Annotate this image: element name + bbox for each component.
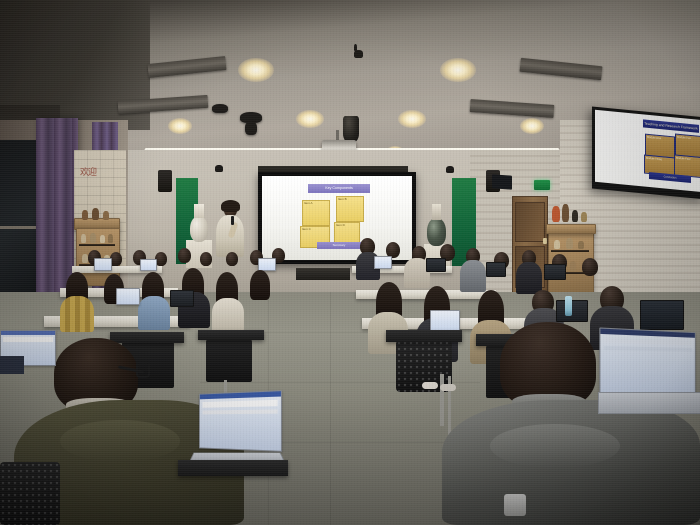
figurine xyxy=(562,204,569,222)
desk xyxy=(178,460,288,476)
presenter-hair xyxy=(221,200,240,212)
audience-torso-plaid xyxy=(60,296,94,332)
ceiling-downlight xyxy=(520,118,544,134)
laptop[interactable] xyxy=(374,256,392,269)
laptop-lid[interactable] xyxy=(199,390,282,452)
shelf-top-right xyxy=(546,224,596,234)
microphone-icon xyxy=(231,216,234,225)
slide-box-1: Item A xyxy=(302,200,330,226)
laptop[interactable] xyxy=(140,259,157,271)
figurine xyxy=(578,241,584,249)
lecture-hall-photo: 欢迎 Key Components Item A Item B Item C I… xyxy=(0,0,700,525)
tv-slide-title-bar: Teaching and Research Framework xyxy=(643,119,699,132)
figurine xyxy=(103,211,109,220)
audience-head xyxy=(250,270,270,300)
water-bottle[interactable] xyxy=(565,296,572,316)
audience-torso xyxy=(138,296,170,330)
cup[interactable] xyxy=(504,494,526,516)
shelf-divider xyxy=(79,244,115,246)
audience-head xyxy=(582,258,598,276)
glasses-lens xyxy=(136,360,150,378)
slide-title-bar: Key Components xyxy=(308,184,370,193)
ceiling-downlight xyxy=(238,58,274,82)
audience-head xyxy=(200,252,212,266)
av-console xyxy=(296,268,350,280)
laptop-keyboard[interactable] xyxy=(598,392,700,414)
laptop[interactable] xyxy=(94,258,112,271)
desk-leg xyxy=(440,374,444,426)
wall-speaker-icon xyxy=(158,170,172,192)
shoe xyxy=(440,384,456,391)
vase-neck-right xyxy=(432,204,441,220)
shoe xyxy=(422,382,438,389)
slide-box-2: Item B xyxy=(336,196,364,222)
desk xyxy=(198,330,264,340)
ceiling-downlight xyxy=(296,110,324,128)
laptop[interactable] xyxy=(170,290,194,307)
decorative-vase-left xyxy=(190,216,208,242)
audience-head xyxy=(178,248,191,263)
laptop[interactable] xyxy=(116,288,140,305)
security-camera-icon xyxy=(446,166,454,173)
figurine xyxy=(90,233,96,243)
figurine xyxy=(570,261,576,271)
tv-screen: Teaching and Research Framework Module O… xyxy=(595,110,700,192)
chair[interactable] xyxy=(206,338,252,382)
sweater-highlight xyxy=(490,424,620,468)
laptop[interactable] xyxy=(599,327,695,398)
window-mullion xyxy=(0,226,40,229)
wall-monitor-small xyxy=(492,174,512,189)
security-camera-icon xyxy=(354,50,363,58)
security-camera-icon xyxy=(215,165,223,172)
figurine xyxy=(554,240,560,249)
figurine xyxy=(572,210,578,222)
figurine xyxy=(100,235,105,243)
audience-head xyxy=(226,252,238,266)
dome-speaker-icon xyxy=(343,116,359,142)
jacket-highlight xyxy=(60,420,180,462)
laptop[interactable] xyxy=(426,258,446,272)
audience-torso xyxy=(212,298,244,332)
figurine xyxy=(566,238,573,249)
figurine xyxy=(581,212,587,222)
wall-mounted-tv: Teaching and Research Framework Module O… xyxy=(592,107,700,200)
laptop[interactable] xyxy=(556,300,588,322)
shelf-divider xyxy=(551,250,589,252)
slide-footer-bar: Summary xyxy=(317,242,361,249)
audience-torso xyxy=(460,260,486,292)
laptop[interactable] xyxy=(430,310,460,332)
desk xyxy=(110,332,184,343)
figurine xyxy=(552,206,560,222)
camera-mount xyxy=(354,44,357,51)
chair[interactable] xyxy=(0,462,60,525)
spotlight-icon xyxy=(212,104,228,113)
wall-calligraphy-text: 欢迎 xyxy=(80,168,110,194)
figurine xyxy=(82,210,88,220)
decorative-vase-right xyxy=(427,218,446,246)
laptop[interactable] xyxy=(544,264,566,280)
door-handle[interactable] xyxy=(543,238,547,244)
laptop-shadow xyxy=(0,356,24,374)
laptop[interactable] xyxy=(486,262,506,277)
ceiling-downlight xyxy=(440,58,476,82)
ceiling-downlight xyxy=(398,110,426,128)
vase-neck-left xyxy=(194,204,204,218)
audience-torso xyxy=(516,262,542,294)
desk xyxy=(386,330,462,342)
figurine xyxy=(92,208,99,220)
figurine xyxy=(81,234,86,243)
laptop[interactable] xyxy=(640,300,684,330)
spotlight-arm xyxy=(245,121,257,135)
exit-sign xyxy=(534,180,550,190)
ceiling-downlight xyxy=(168,118,192,134)
figurine xyxy=(108,234,113,243)
door-panel-upper xyxy=(515,202,545,242)
